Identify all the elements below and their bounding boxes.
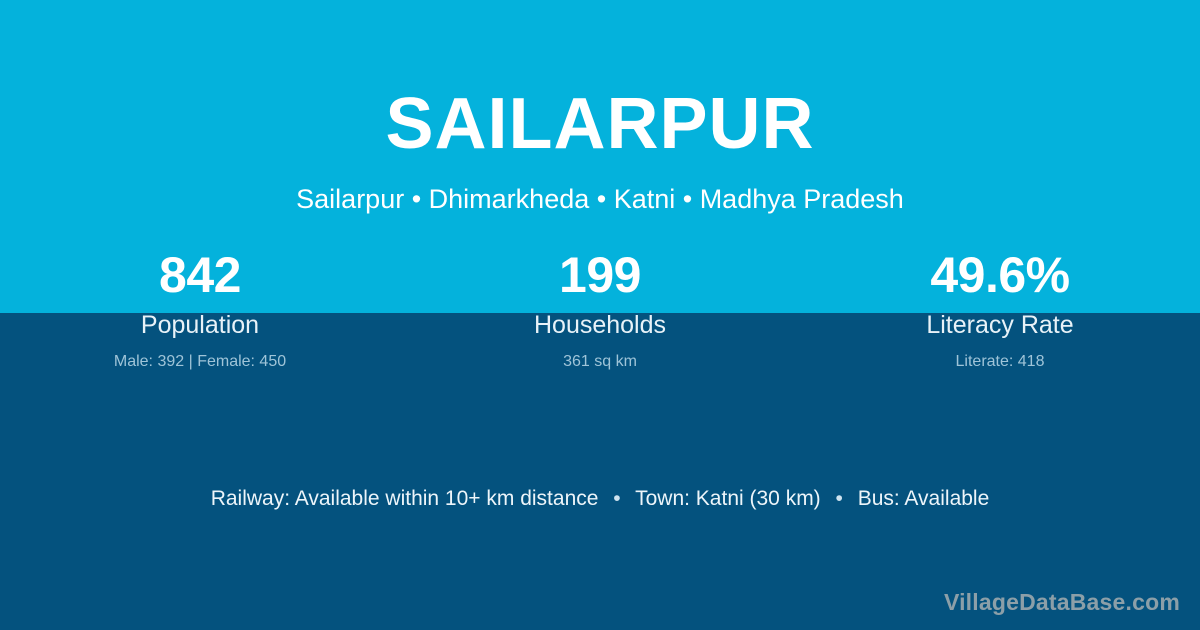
facility-separator-icon: • [827,485,852,513]
stats-row: 842 Population Male: 392 | Female: 450 1… [0,246,1200,373]
stat-households-label: Households [400,304,800,342]
stat-households-detail: 361 sq km [400,342,800,373]
facility-railway: Railway: Available within 10+ km distanc… [211,487,599,510]
stat-literacy-detail: Literate: 418 [800,342,1200,373]
breadcrumb: Sailarpur • Dhimarkheda • Katni • Madhya… [0,160,1200,215]
page-title: SAILARPUR [0,0,1200,160]
stat-population-value: 842 [0,246,400,304]
facility-town: Town: Katni (30 km) [635,487,821,510]
stat-population-detail: Male: 392 | Female: 450 [0,342,400,373]
village-info-card: SAILARPUR Sailarpur • Dhimarkheda • Katn… [0,0,1200,630]
site-watermark: VillageDataBase.com [944,588,1180,616]
stat-households-value: 199 [400,246,800,304]
stat-literacy-value: 49.6% [800,246,1200,304]
stat-households: 199 Households 361 sq km [400,246,800,373]
stat-population: 842 Population Male: 392 | Female: 450 [0,246,400,373]
facilities-line: Railway: Available within 10+ km distanc… [0,485,1200,513]
stat-population-label: Population [0,304,400,342]
card-header: SAILARPUR Sailarpur • Dhimarkheda • Katn… [0,0,1200,215]
facility-bus: Bus: Available [858,487,990,510]
stat-literacy-label: Literacy Rate [800,304,1200,342]
facility-separator-icon: • [604,485,629,513]
stat-literacy: 49.6% Literacy Rate Literate: 418 [800,246,1200,373]
